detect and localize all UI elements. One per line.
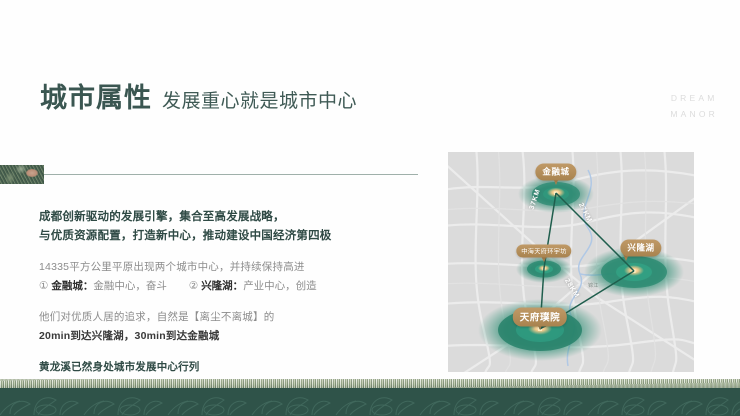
note-line-2: 他们对优质人居的追求，自然是【离尘不离城】的 bbox=[39, 308, 419, 327]
spacer-3 bbox=[39, 346, 419, 358]
spacer-1 bbox=[39, 245, 419, 258]
enum-2-name: 兴隆湖： bbox=[201, 280, 243, 292]
enum-1-text: 金融中心，奋斗 bbox=[93, 280, 167, 292]
page-title-sub: 发展重心就是城市中心 bbox=[162, 91, 357, 112]
pin-label-tianfupuyuan[interactable]: 天府璞院 bbox=[513, 308, 567, 327]
brand-line-2: MANOR bbox=[670, 106, 718, 122]
bottom-dark-band bbox=[0, 388, 740, 416]
enum-2-text: 产业中心，创造 bbox=[243, 280, 317, 292]
map-graphic bbox=[448, 152, 694, 372]
pin-label-jinrongcheng[interactable]: 金融城 bbox=[535, 164, 576, 181]
enumeration-row: ① 金融城：金融中心，奋斗② 兴隆湖：产业中心，创造 bbox=[39, 277, 419, 296]
enum-1-name: 金融城： bbox=[51, 280, 93, 292]
tagline: 黄龙溪已然身处城市发展中心行列 bbox=[39, 358, 419, 377]
slide-root: DREAM MANOR 城市属性发展重心就是城市中心 成都创新驱动的发展引擎，集… bbox=[0, 0, 740, 416]
decorative-foliage-swatch bbox=[0, 165, 44, 184]
enum-2-marker: ② bbox=[189, 280, 198, 292]
body-copy: 成都创新驱动的发展引擎，集合至高发展战略， 与优质资源配置，打造新中心，推动建设… bbox=[39, 208, 419, 377]
river-label: 锦江 bbox=[588, 282, 598, 289]
note-line-1: 14335平方公里平原出现两个城市中心，并持续保持高进 bbox=[39, 258, 419, 277]
location-map[interactable]: 37KM 27KM 28KM 锦江 金融城 兴隆湖 中海天府环宇坊 天府璞院 bbox=[448, 152, 694, 372]
bottom-band-motif bbox=[0, 388, 740, 416]
spacer-2 bbox=[39, 296, 419, 308]
bottom-foliage-band bbox=[0, 379, 740, 388]
brand-line-1: DREAM bbox=[670, 90, 718, 106]
pin-label-huanyufang[interactable]: 中海天府环宇坊 bbox=[516, 245, 571, 258]
page-title-main: 城市属性 bbox=[40, 83, 152, 114]
pin-label-xinglonghu[interactable]: 兴隆湖 bbox=[620, 240, 661, 257]
lead-line-1: 成都创新驱动的发展引擎，集合至高发展战略， bbox=[39, 208, 419, 227]
page-title: 城市属性发展重心就是城市中心 bbox=[40, 76, 357, 115]
divider-rule bbox=[44, 174, 418, 175]
brand-mark: DREAM MANOR bbox=[670, 90, 718, 122]
lead-line-2: 与优质资源配置，打造新中心，推动建设中国经济第四极 bbox=[39, 227, 419, 246]
note-line-3: 20min到达兴隆湖，30min到达金融城 bbox=[39, 327, 419, 346]
enum-1-marker: ① bbox=[39, 280, 48, 292]
